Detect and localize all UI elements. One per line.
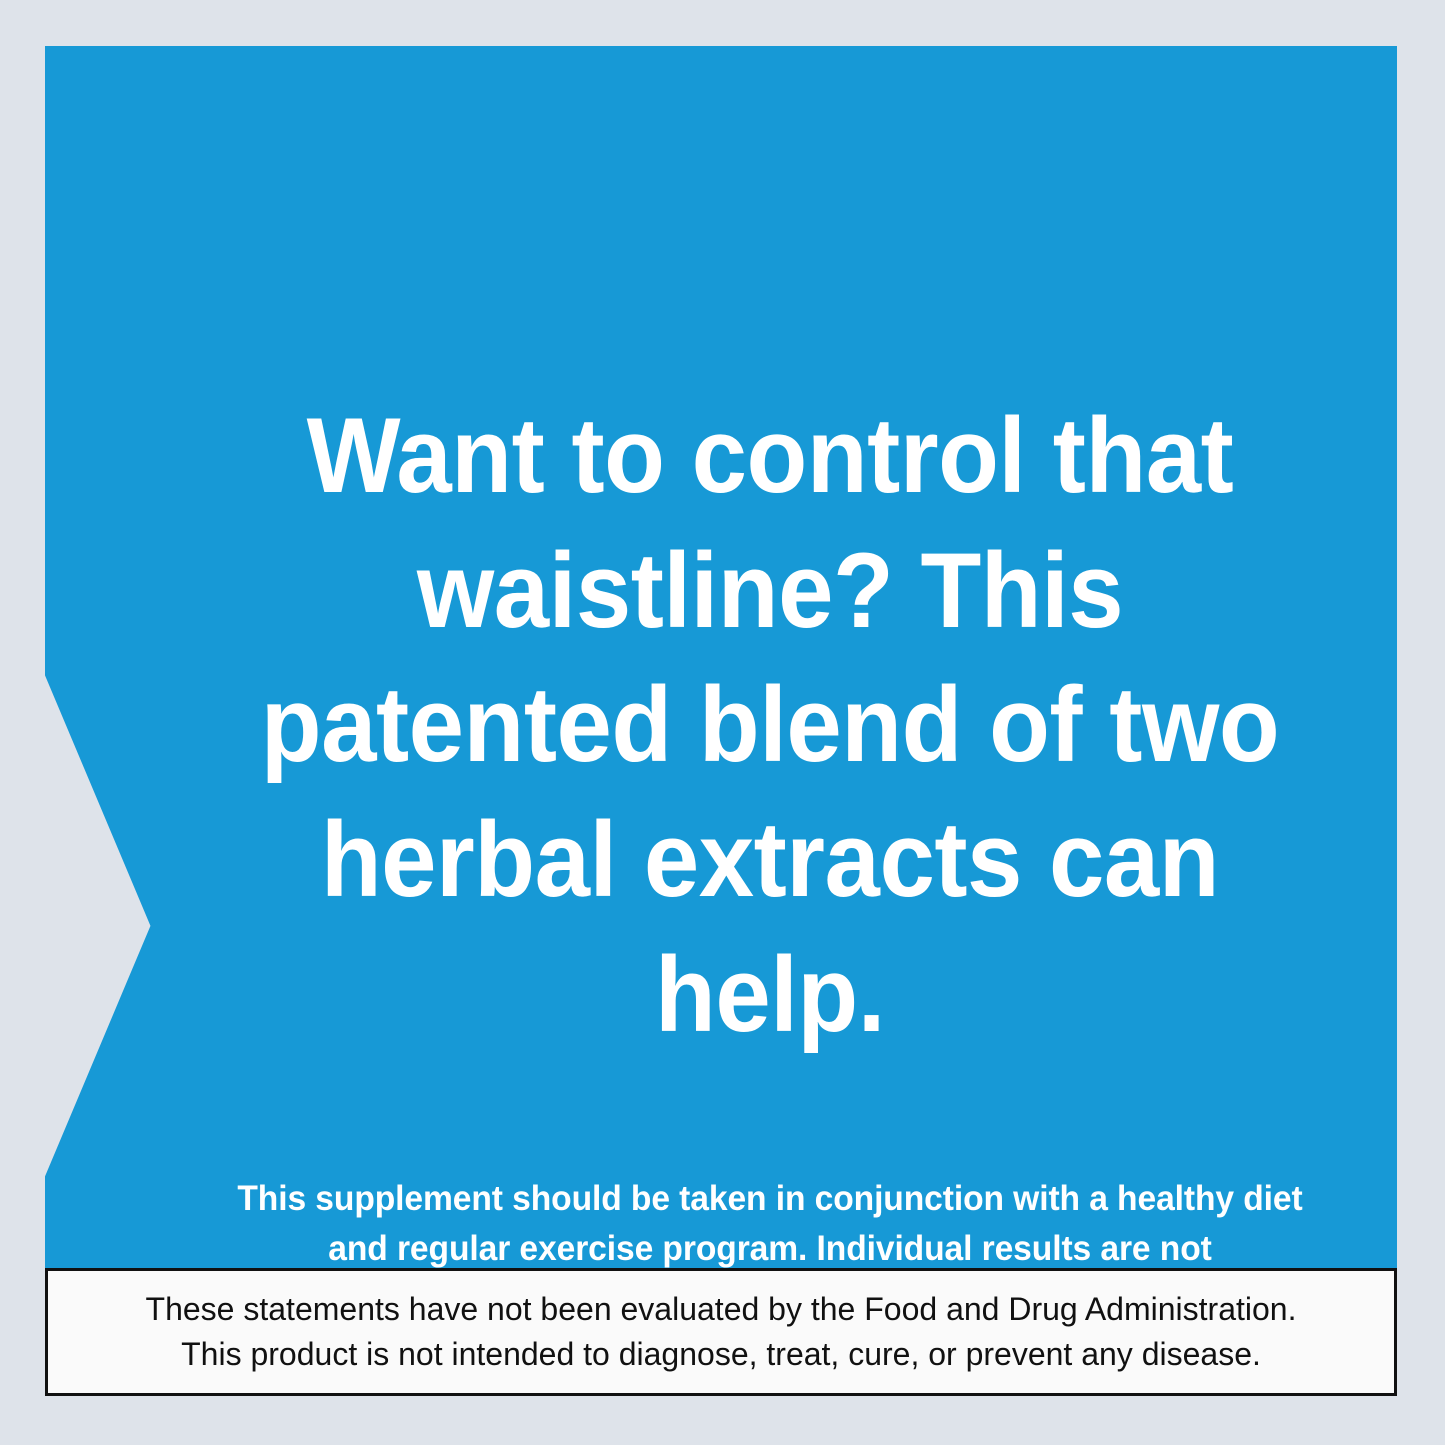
fda-legal-box: These statements have not been evaluated… (45, 1268, 1397, 1396)
page-title: Want to control that waistline? This pat… (254, 388, 1286, 1062)
blue-panel: Want to control that waistline? This pat… (45, 46, 1397, 1268)
promo-card: Want to control that waistline? This pat… (0, 0, 1445, 1445)
fda-legal-line-1: These statements have not been evaluated… (146, 1287, 1297, 1332)
fda-legal-line-2: This product is not intended to diagnose… (181, 1332, 1261, 1377)
